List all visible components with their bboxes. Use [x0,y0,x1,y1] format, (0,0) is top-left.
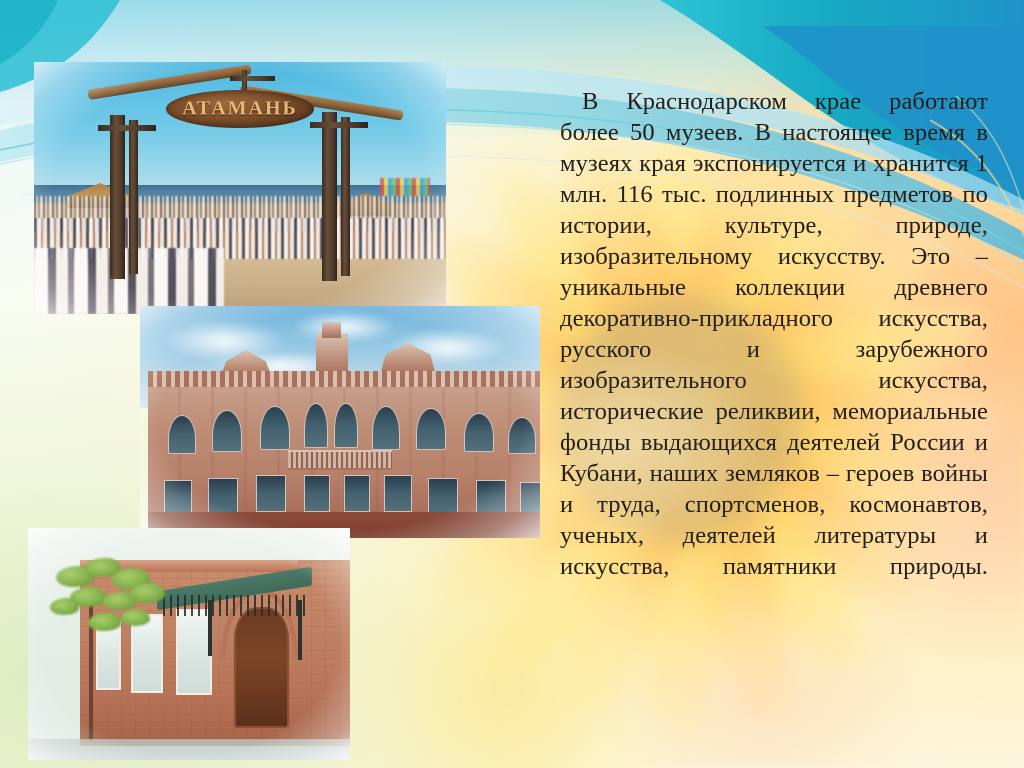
photo-historic-museum-facade [140,306,540,538]
atamam-sign-text: АТАМАНЬ [166,97,314,120]
atamam-sign: АТАМАНЬ [166,90,314,128]
slide-body-text: В Краснодарском крае работают более 50 м… [560,86,988,613]
tree-foliage [41,551,189,658]
mansion-entrance-door [234,607,289,728]
photo-brick-mansion-museum [28,528,350,760]
presentation-slide: АТАМАНЬ [0,0,1024,768]
photo-atamam-gate: АТАМАНЬ [34,62,446,314]
